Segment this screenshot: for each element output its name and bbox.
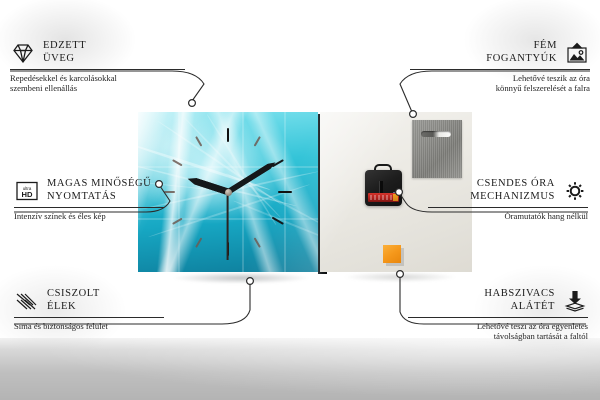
mechanism-housing (365, 170, 402, 206)
front-panel-shadow (146, 270, 336, 286)
hanger-slot (421, 131, 451, 137)
gear-icon (562, 179, 588, 203)
clock-center-cap (225, 189, 232, 196)
hanging-frame-icon (564, 41, 590, 65)
callout-title: HABSZIVACS ALÁTÉT (484, 288, 555, 313)
callout-divider (408, 317, 588, 318)
press-pad-icon (562, 289, 588, 313)
metal-hanger-plate (412, 120, 462, 178)
callout-divider (14, 317, 164, 318)
clock-second-hand (227, 192, 229, 260)
callout-title: CSENDES ÓRA MECHANIZMUS (470, 178, 555, 203)
callout-divider (428, 207, 588, 208)
callout-divider (410, 69, 590, 70)
polished-edges-icon (14, 289, 40, 313)
ultra-hd-icon: ultra HD (14, 179, 40, 203)
infographic-canvas: EDZETT ÜVEG Repedésekkel és karcolásokka… (0, 0, 600, 400)
callout-divider (10, 69, 185, 70)
clock-mechanism (365, 164, 402, 206)
callout-title: EDZETT ÜVEG (43, 40, 86, 65)
callout-foam-pad[interactable]: HABSZIVACS ALÁTÉT Lehetővé teszi az óra … (408, 288, 588, 342)
callout-subtitle: Repedésekkel és karcolásokkal szembeni e… (10, 73, 185, 94)
battery (368, 193, 399, 202)
foam-pad-sample (383, 245, 401, 263)
callout-high-quality-print[interactable]: ultra HD MAGAS MINŐSÉGŰ NYOMTATÁS Intenz… (14, 178, 164, 221)
callout-subtitle: Óramutatók hang nélkül (428, 211, 588, 221)
callout-metal-handles[interactable]: FÉM FOGANTYÚK Lehetővé teszik az óra kön… (410, 40, 590, 94)
clock-front-view (138, 112, 318, 272)
callout-divider (14, 207, 164, 208)
callout-subtitle: Lehetővé teszik az óra könnyű felszerelé… (410, 73, 590, 94)
callout-polished-edges[interactable]: CSISZOLT ÉLEK Sima és biztonságos felüle… (14, 288, 164, 331)
callout-title: CSISZOLT ÉLEK (47, 288, 100, 313)
callout-tempered-glass[interactable]: EDZETT ÜVEG Repedésekkel és karcolásokka… (10, 40, 185, 94)
callout-title: FÉM FOGANTYÚK (486, 40, 557, 65)
callout-title: MAGAS MINŐSÉGŰ NYOMTATÁS (47, 178, 151, 203)
callout-subtitle: Sima és biztonságos felület (14, 321, 164, 331)
battery-label (370, 195, 392, 200)
callout-subtitle: Lehetővé teszi az óra egyenletes távolsá… (408, 321, 588, 342)
clock-face-print (138, 112, 318, 272)
svg-text:HD: HD (22, 190, 33, 199)
callout-subtitle: Intenzív színek és éles kép (14, 211, 164, 221)
callout-silent-clock-mechanism[interactable]: CSENDES ÓRA MECHANIZMUS Óramutatók hang … (428, 178, 588, 221)
background-lower-sheen (0, 338, 600, 400)
back-panel-shadow (324, 270, 476, 284)
diamond-icon (10, 41, 36, 65)
